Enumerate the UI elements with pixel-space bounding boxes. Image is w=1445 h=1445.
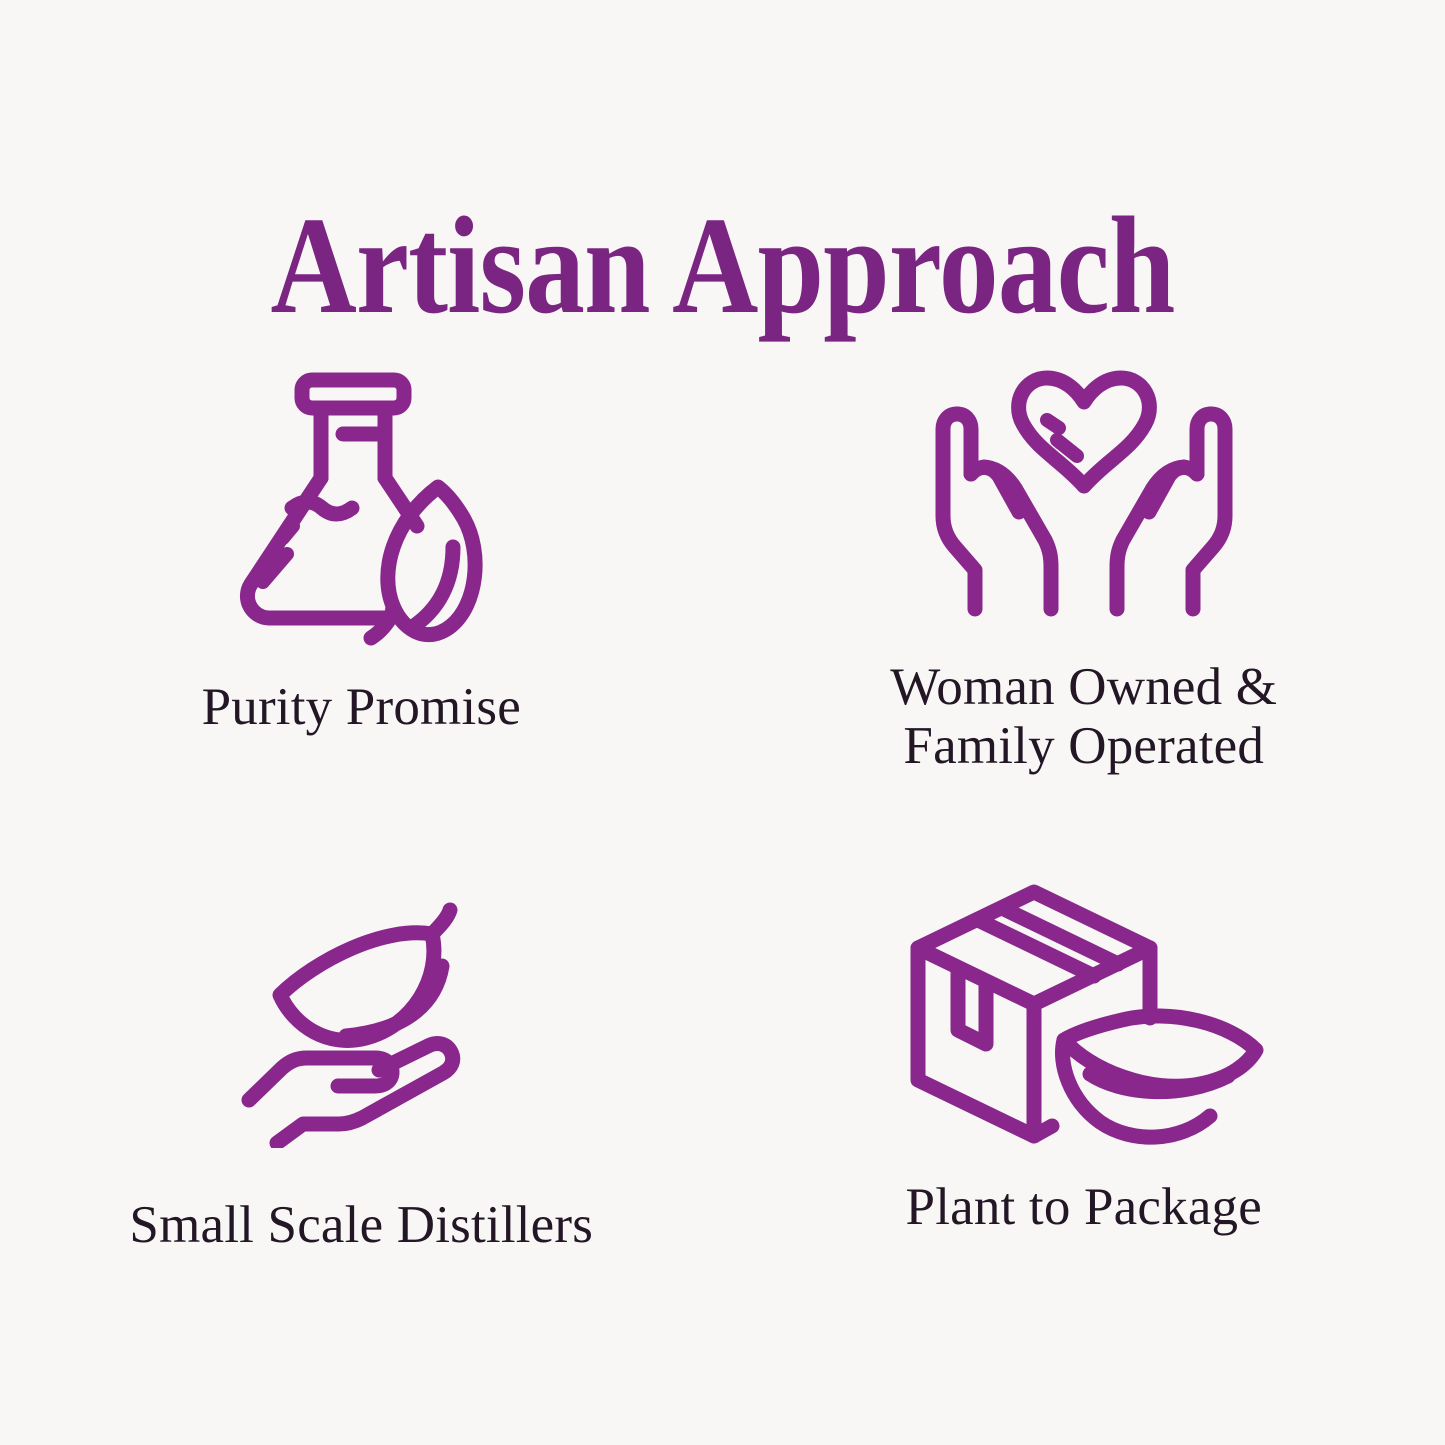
feature-label: Plant to Package xyxy=(906,1178,1262,1237)
feature-label: Purity Promise xyxy=(202,678,521,737)
feature-grid: Purity Promise xyxy=(0,330,1445,1370)
hands-holding-heart-icon xyxy=(929,364,1239,624)
feature-woman-owned: Woman Owned & Family Operated xyxy=(723,330,1445,850)
feature-purity-promise: Purity Promise xyxy=(0,330,723,850)
flask-leaf-icon xyxy=(225,356,497,646)
feature-label: Small Scale Distillers xyxy=(129,1196,593,1255)
box-leaf-icon xyxy=(894,878,1274,1148)
hand-holding-leaf-icon xyxy=(236,898,486,1148)
page-title: Artisan Approach xyxy=(101,197,1344,336)
artisan-approach-graphic: Artisan Approach xyxy=(0,0,1445,1445)
feature-label: Woman Owned & Family Operated xyxy=(890,658,1277,777)
feature-small-scale-distillers: Small Scale Distillers xyxy=(0,850,723,1370)
feature-plant-to-package: Plant to Package xyxy=(723,850,1445,1370)
